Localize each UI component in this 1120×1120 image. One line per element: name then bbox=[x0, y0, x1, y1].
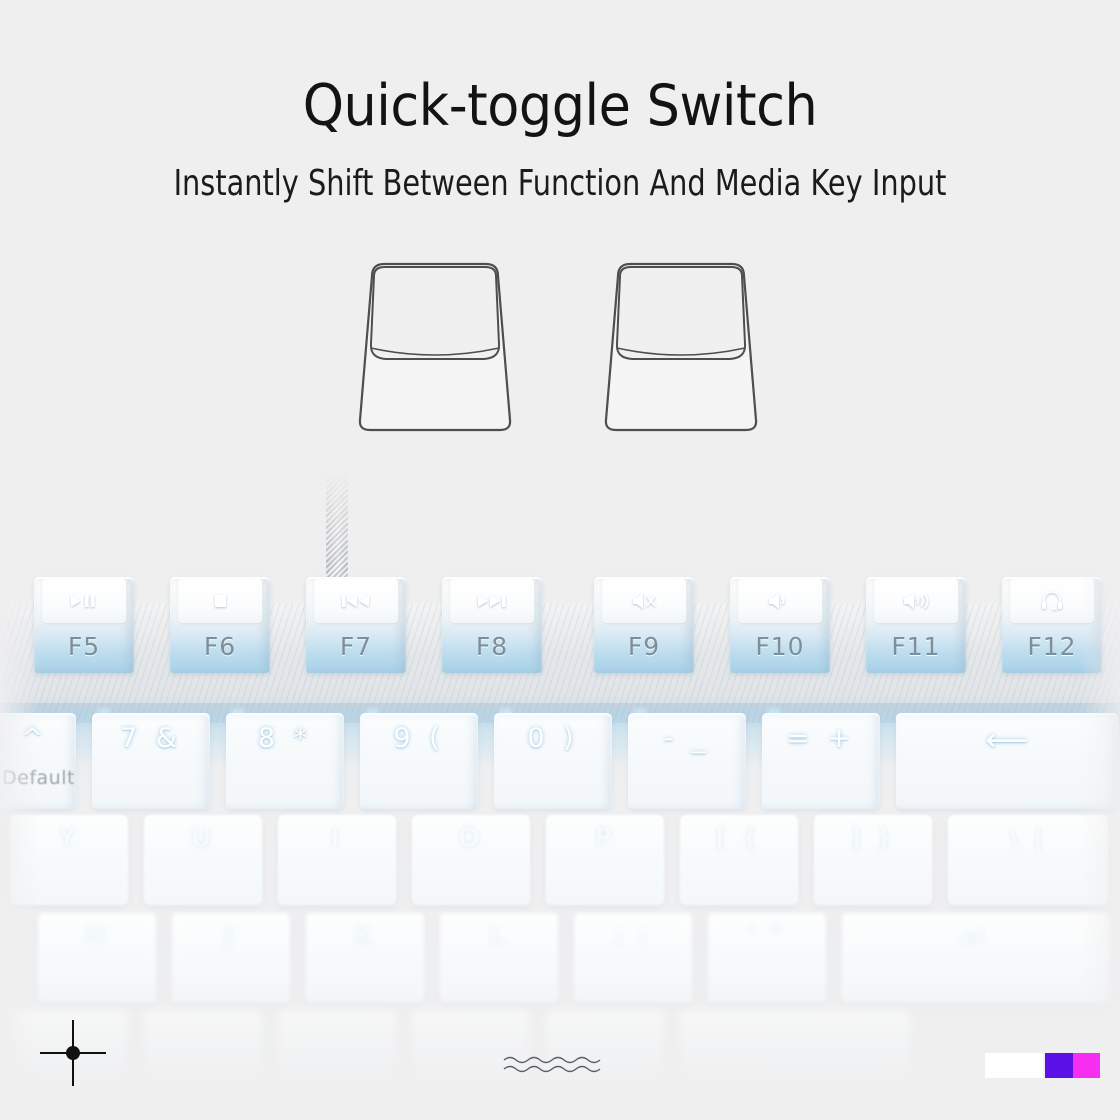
play-pause-icon bbox=[34, 591, 134, 608]
key-f10[interactable]: F10 bbox=[730, 577, 830, 673]
key-f7[interactable]: F7 bbox=[306, 577, 406, 673]
page-title: Quick-toggle Switch bbox=[45, 74, 1075, 138]
key-9[interactable]: 9 ( bbox=[360, 713, 478, 809]
key-label-p: P bbox=[546, 823, 664, 852]
keycap-outline-ins-fnlock bbox=[596, 258, 766, 438]
key-bracket-right[interactable]: ] } bbox=[814, 815, 932, 905]
next-track-icon bbox=[442, 591, 542, 608]
key-label-quote: ’ ” bbox=[708, 921, 826, 950]
wavy-line-mark bbox=[503, 1053, 621, 1075]
key-label-7: 7 & bbox=[92, 723, 210, 754]
key-label-i: I bbox=[278, 823, 396, 852]
volume-down-icon bbox=[730, 591, 830, 610]
key-label-o: O bbox=[412, 823, 530, 852]
mute-icon bbox=[594, 591, 694, 610]
key-label-l: L bbox=[440, 921, 558, 950]
key-0[interactable]: 0 ) bbox=[494, 713, 612, 809]
keycap-outline-fn bbox=[350, 258, 520, 438]
key-label-f5: F5 bbox=[34, 632, 134, 661]
key-label-minus: - _ bbox=[628, 723, 746, 754]
stop-icon bbox=[170, 591, 270, 608]
key-o[interactable]: O bbox=[412, 815, 530, 905]
key-label-f7: F7 bbox=[306, 632, 406, 661]
previous-track-icon bbox=[306, 591, 406, 608]
key-label-k: K bbox=[306, 921, 424, 950]
shortcut-diagram: FN INS FN LOCK bbox=[0, 258, 1120, 448]
key-p[interactable]: P bbox=[546, 815, 664, 905]
key-label-f6: F6 bbox=[170, 632, 270, 661]
key-label-f10: F10 bbox=[730, 632, 830, 661]
key-equal[interactable]: = + bbox=[762, 713, 880, 809]
key-bracket-left[interactable]: [ { bbox=[680, 815, 798, 905]
key-label-enter: ↵ bbox=[842, 921, 1110, 956]
key-f6[interactable]: F6 bbox=[170, 577, 270, 673]
key-label-9: 9 ( bbox=[360, 723, 478, 754]
key-label-j: J bbox=[172, 921, 290, 950]
volume-up-icon bbox=[866, 591, 966, 610]
key-label-h: H bbox=[38, 921, 156, 950]
key-label-bracket-right: ] } bbox=[814, 823, 932, 852]
key-label-f8: F8 bbox=[442, 632, 542, 661]
key-label-8: 8 * bbox=[226, 723, 344, 754]
registration-mark bbox=[40, 1020, 106, 1086]
key-7[interactable]: 7 & bbox=[92, 713, 210, 809]
keyboard-photo: F5 F6 F7 F8 bbox=[0, 455, 1120, 1120]
key-label-semicolon: ; : bbox=[574, 921, 692, 950]
swatch-white bbox=[985, 1053, 1045, 1078]
key-label-bracket-left: [ { bbox=[680, 823, 798, 852]
screenshot-stage: Quick-toggle Switch Instantly Shift Betw… bbox=[0, 0, 1120, 1120]
key-u[interactable]: U bbox=[144, 815, 262, 905]
key-label-equal: = + bbox=[762, 723, 880, 754]
page-subtitle: Instantly Shift Between Function And Med… bbox=[112, 162, 1008, 206]
key-minus[interactable]: - _ bbox=[628, 713, 746, 809]
key-label-f9: F9 bbox=[594, 632, 694, 661]
key-f11[interactable]: F11 bbox=[866, 577, 966, 673]
key-f5[interactable]: F5 bbox=[34, 577, 134, 673]
key-label-0: 0 ) bbox=[494, 723, 612, 754]
key-label-f11: F11 bbox=[866, 632, 966, 661]
key-f8[interactable]: F8 bbox=[442, 577, 542, 673]
key-i[interactable]: I bbox=[278, 815, 396, 905]
key-8[interactable]: 8 * bbox=[226, 713, 344, 809]
key-label-u: U bbox=[144, 823, 262, 852]
key-f9[interactable]: F9 bbox=[594, 577, 694, 673]
swatch-frame bbox=[1043, 1049, 1102, 1082]
